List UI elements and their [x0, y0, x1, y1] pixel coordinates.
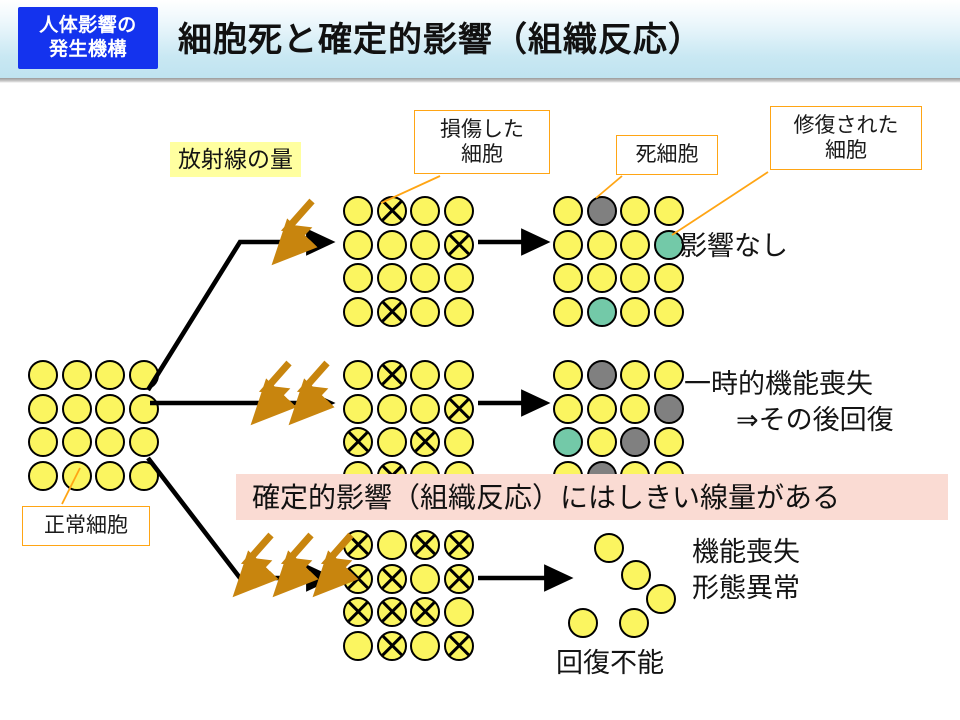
normal-cell-grid	[28, 360, 159, 491]
outcome-row2: 一時的機能喪失 ⇒その後回復	[684, 366, 894, 439]
cell-normal	[62, 360, 92, 390]
outcome-row3-line1: 機能喪失	[692, 537, 800, 567]
cell-normal	[444, 196, 474, 226]
cell-normal	[95, 461, 125, 491]
outcome-row2-line2: ⇒その後回復	[736, 402, 894, 438]
cell-normal	[587, 427, 617, 457]
outcome-row1: 影響なし	[680, 228, 788, 264]
leader-repaired-cell	[672, 172, 768, 235]
row1-damaged-grid	[343, 196, 474, 327]
header-badge: 人体影響の 発生機構	[18, 7, 158, 69]
outcome-row3-line2: 形態異常	[692, 570, 800, 606]
cell-normal	[654, 360, 684, 390]
cell-normal	[553, 297, 583, 327]
cell-normal	[410, 564, 440, 594]
cell-normal	[620, 263, 650, 293]
cell-normal	[553, 263, 583, 293]
cell-damaged	[444, 530, 474, 560]
row1-result-grid	[553, 196, 684, 327]
cell-normal	[343, 263, 373, 293]
cell-damaged	[377, 631, 407, 661]
cell-normal	[444, 297, 474, 327]
cell-normal	[410, 196, 440, 226]
cell-normal	[377, 427, 407, 457]
threshold-banner: 確定的影響（組織反応）にはしきい線量がある	[236, 474, 948, 520]
cell-normal	[410, 631, 440, 661]
cell-normal	[444, 597, 474, 627]
cell-normal	[343, 360, 373, 390]
cell-normal	[129, 427, 159, 457]
cell-normal	[621, 560, 651, 590]
cell-normal	[620, 394, 650, 424]
cell-normal	[620, 230, 650, 260]
cell-normal	[410, 263, 440, 293]
cell-dead	[587, 360, 617, 390]
damaged-cell-callout: 損傷した 細胞	[414, 110, 550, 174]
repaired-cell-callout: 修復された 細胞	[770, 106, 922, 170]
radiation-bolt-row2-2	[303, 363, 327, 410]
header-badge-line2: 発生機構	[49, 38, 127, 62]
cell-normal	[377, 530, 407, 560]
cell-dead	[654, 394, 684, 424]
cell-normal	[410, 360, 440, 390]
dead-cell-callout: 死細胞	[616, 135, 718, 175]
outcome-row2-line1: 一時的機能喪失	[684, 369, 873, 399]
cell-damaged	[444, 631, 474, 661]
cell-normal	[553, 196, 583, 226]
cell-normal	[553, 394, 583, 424]
damaged-cell-callout-line2: 細胞	[461, 142, 503, 167]
cell-normal	[553, 360, 583, 390]
cell-normal	[95, 360, 125, 390]
cell-normal	[568, 608, 598, 638]
header-badge-line1: 人体影響の	[39, 14, 137, 38]
cell-normal	[654, 196, 684, 226]
cell-normal	[654, 427, 684, 457]
outcome-row3-line3: 回復不能	[556, 645, 664, 681]
cell-normal	[620, 297, 650, 327]
branch-arrow-row1	[148, 242, 330, 390]
cell-damaged	[377, 360, 407, 390]
cell-damaged	[343, 597, 373, 627]
cell-normal	[654, 263, 684, 293]
cell-normal	[410, 230, 440, 260]
normal-cell-callout: 正常細胞	[22, 506, 150, 546]
header-divider	[0, 78, 960, 83]
cell-damaged	[377, 196, 407, 226]
cell-normal	[62, 394, 92, 424]
radiation-bolt-row3-2	[287, 535, 311, 582]
cell-normal	[587, 263, 617, 293]
cell-normal	[553, 230, 583, 260]
cell-normal	[619, 608, 649, 638]
cell-normal	[28, 360, 58, 390]
dose-label: 放射線の量	[170, 142, 301, 177]
repaired-cell-callout-line1: 修復された	[794, 113, 899, 138]
cell-normal	[587, 230, 617, 260]
cell-normal	[95, 427, 125, 457]
cell-normal	[129, 360, 159, 390]
radiation-bolt-row1-1	[286, 201, 312, 250]
cell-damaged	[343, 530, 373, 560]
damaged-cell-callout-line1: 損傷した	[440, 117, 524, 142]
cell-dead	[587, 196, 617, 226]
cell-dead	[620, 427, 650, 457]
cell-normal	[377, 263, 407, 293]
cell-normal	[28, 394, 58, 424]
cell-normal	[377, 230, 407, 260]
cell-normal	[377, 394, 407, 424]
row3-damaged-grid	[343, 530, 474, 661]
cell-normal	[444, 263, 474, 293]
cell-normal	[620, 360, 650, 390]
page-title: 細胞死と確定的影響（組織反応）	[178, 12, 703, 61]
cell-damaged	[444, 394, 474, 424]
cell-normal	[594, 533, 624, 563]
cell-damaged	[410, 427, 440, 457]
cell-normal	[444, 360, 474, 390]
cell-normal	[410, 394, 440, 424]
cell-normal	[28, 427, 58, 457]
radiation-bolt-row3-1	[247, 535, 271, 582]
row2-damaged-grid	[343, 360, 474, 491]
cell-normal	[410, 297, 440, 327]
cell-normal	[28, 461, 58, 491]
cell-normal	[654, 297, 684, 327]
cell-normal	[129, 394, 159, 424]
cell-normal	[343, 297, 373, 327]
outcome-row3: 機能喪失 形態異常	[692, 534, 800, 607]
cell-damaged	[410, 597, 440, 627]
cell-repaired	[654, 230, 684, 260]
row2-result-grid	[553, 360, 684, 491]
cell-normal	[444, 427, 474, 457]
cell-damaged	[444, 230, 474, 260]
cell-damaged	[343, 564, 373, 594]
cell-normal	[620, 196, 650, 226]
cell-damaged	[377, 297, 407, 327]
cell-normal	[343, 394, 373, 424]
dead-cell-callout-label: 死細胞	[636, 142, 699, 167]
cell-normal	[129, 461, 159, 491]
leader-dead-cell	[596, 176, 622, 198]
cell-damaged	[444, 564, 474, 594]
repaired-cell-callout-line2: 細胞	[825, 138, 867, 163]
cell-normal	[62, 427, 92, 457]
cell-damaged	[377, 564, 407, 594]
normal-cell-callout-label: 正常細胞	[44, 513, 128, 538]
cell-damaged	[343, 427, 373, 457]
cell-normal	[343, 631, 373, 661]
cell-normal	[62, 461, 92, 491]
cell-normal	[587, 394, 617, 424]
slide-canvas: 人体影響の 発生機構 細胞死と確定的影響（組織反応） 放射線の量 損傷した 細胞…	[0, 0, 960, 720]
cell-repaired	[587, 297, 617, 327]
cell-normal	[646, 584, 676, 614]
radiation-bolt-row2-1	[265, 363, 289, 410]
cell-normal	[95, 394, 125, 424]
cell-damaged	[377, 597, 407, 627]
cell-normal	[343, 196, 373, 226]
cell-repaired	[553, 427, 583, 457]
cell-normal	[343, 230, 373, 260]
cell-damaged	[410, 530, 440, 560]
